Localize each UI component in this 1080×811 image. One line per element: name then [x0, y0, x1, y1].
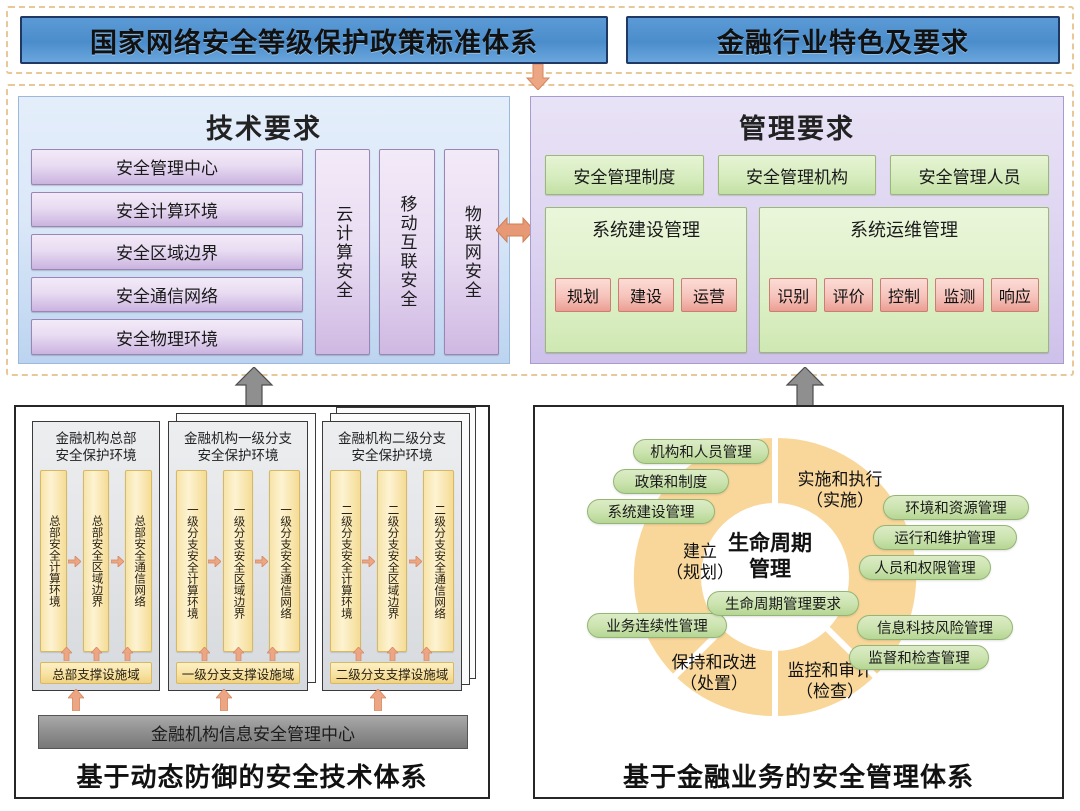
security-column-label: 总部安全区域边界 — [90, 515, 103, 607]
lifecycle-pill[interactable]: 环境和资源管理 — [883, 495, 1029, 520]
finance-security-management-diagram: 建立 （规划） 实施和执行 （实施） 监控和审计 （检查） 保持和改进 （处置）… — [533, 405, 1064, 799]
institution-group-title: 金融机构总部 安全保护环境 — [33, 422, 159, 464]
left-diagram-caption: 基于动态防御的安全技术体系 — [14, 757, 490, 794]
support-facility-bar[interactable]: 总部支撑设施域 — [40, 662, 152, 684]
right-arrow-icon — [208, 556, 221, 567]
right-diagram-caption: 基于金融业务的安全管理体系 — [533, 757, 1064, 794]
support-facility-bar[interactable]: 二级分支支撑设施域 — [330, 662, 454, 684]
management-requirements-panel: 管理要求 安全管理制度 安全管理机构 安全管理人员 系统建设管理 规划 建设 运… — [530, 96, 1064, 364]
technical-requirements-panel: 技术要求 安全管理中心 安全计算环境 安全区域边界 安全通信网络 安全物理环境 … — [18, 96, 510, 364]
mini-up-arrow-icon — [421, 647, 432, 661]
tech-layer-list: 安全管理中心 安全计算环境 安全区域边界 安全通信网络 安全物理环境 — [31, 149, 303, 355]
right-arrow-icon — [255, 556, 268, 567]
tech-extension-item[interactable]: 云计算安全 — [315, 149, 370, 355]
security-column-label: 二级分支安全计算环境 — [339, 504, 352, 619]
orange-down-arrow-icon — [525, 64, 551, 90]
tech-layer-item[interactable]: 安全通信网络 — [31, 277, 303, 313]
tech-layer-item[interactable]: 安全计算环境 — [31, 192, 303, 228]
institution-group-level1-branch[interactable]: 金融机构一级分支 安全保护环境 一级分支安全计算环境 一级分支安全区域边界 一级… — [168, 421, 308, 691]
right-arrow-icon — [362, 556, 375, 567]
security-column[interactable]: 二级分支安全计算环境 — [330, 470, 361, 652]
institution-group-title: 金融机构一级分支 安全保护环境 — [169, 422, 307, 464]
security-column-label: 总部安全通信网络 — [132, 515, 145, 607]
bidirectional-arrow-icon — [496, 212, 534, 248]
security-column-label: 一级分支安全区域边界 — [232, 504, 245, 619]
mgmt-chip[interactable]: 控制 — [880, 278, 928, 312]
tech-layer-item[interactable]: 安全物理环境 — [31, 319, 303, 355]
security-column-label: 总部安全计算环境 — [47, 515, 60, 607]
tech-extension-label: 物联网安全 — [459, 205, 484, 300]
lifecycle-pill[interactable]: 机构和人员管理 — [633, 439, 769, 464]
lifecycle-pill[interactable]: 系统建设管理 — [587, 499, 715, 524]
quadrant-label-implement: 实施和执行 （实施） — [780, 469, 900, 511]
security-column[interactable]: 总部安全区域边界 — [83, 470, 110, 652]
security-column-label: 二级分支安全区域边界 — [386, 504, 399, 619]
quadrant-label-maintain: 保持和改进 （处置） — [655, 652, 773, 694]
tech-layer-item[interactable]: 安全区域边界 — [31, 234, 303, 270]
institution-group-level2-branch[interactable]: 金融机构二级分支 安全保护环境 二级分支安全计算环境 二级分支安全区域边界 二级… — [322, 421, 462, 691]
mgmt-chip[interactable]: 建设 — [618, 278, 674, 312]
tech-extension-item[interactable]: 移动互联安全 — [379, 149, 434, 355]
lifecycle-pill[interactable]: 业务连续性管理 — [587, 613, 727, 638]
mgmt-chip[interactable]: 规划 — [555, 278, 611, 312]
mini-up-arrow-icon — [387, 647, 398, 661]
mgmt-chip[interactable]: 响应 — [991, 278, 1039, 312]
right-arrow-icon — [111, 556, 124, 567]
security-column-label: 一级分支安全计算环境 — [185, 504, 198, 619]
mgmt-top-item[interactable]: 安全管理制度 — [545, 155, 704, 195]
mini-up-arrow-icon — [370, 689, 386, 711]
tech-extension-label: 移动互联安全 — [394, 195, 419, 309]
mgmt-top-item[interactable]: 安全管理机构 — [718, 155, 877, 195]
mini-up-arrow-icon — [216, 689, 232, 711]
right-arrow-icon — [68, 556, 81, 567]
institution-group-title: 金融机构二级分支 安全保护环境 — [323, 422, 461, 464]
up-arrow-icon-left — [234, 367, 274, 407]
security-column[interactable]: 二级分支安全区域边界 — [377, 470, 408, 652]
mgmt-chip[interactable]: 运营 — [681, 278, 737, 312]
security-column[interactable]: 一级分支安全计算环境 — [176, 470, 207, 652]
banner-national-policy[interactable]: 国家网络安全等级保护政策标准体系 — [20, 16, 608, 64]
lifecycle-center-pill[interactable]: 生命周期管理要求 — [707, 591, 859, 616]
security-column[interactable]: 总部安全计算环境 — [40, 470, 67, 652]
lifecycle-pill[interactable]: 政策和制度 — [613, 469, 729, 494]
mgmt-panel-title: 管理要求 — [531, 97, 1063, 146]
lifecycle-pill[interactable]: 运行和维护管理 — [873, 525, 1017, 550]
mgmt-chip[interactable]: 监测 — [935, 278, 983, 312]
security-column[interactable]: 一级分支安全区域边界 — [223, 470, 254, 652]
lifecycle-pill[interactable]: 信息科技风险管理 — [857, 615, 1013, 640]
mini-up-arrow-icon — [233, 647, 244, 661]
right-arrow-icon — [409, 556, 422, 567]
mini-up-arrow-icon — [61, 647, 72, 661]
mini-up-arrow-icon — [122, 647, 133, 661]
tech-extension-label: 云计算安全 — [330, 205, 355, 300]
institution-group-headquarters[interactable]: 金融机构总部 安全保护环境 总部安全计算环境 总部安全区域边界 总部安全通信网络… — [32, 421, 160, 691]
information-security-management-center-bar[interactable]: 金融机构信息安全管理中心 — [38, 715, 468, 749]
lifecycle-pill[interactable]: 人员和权限管理 — [859, 555, 991, 580]
security-column[interactable]: 一级分支安全通信网络 — [269, 470, 300, 652]
tech-layer-item[interactable]: 安全管理中心 — [31, 149, 303, 185]
mgmt-chip[interactable]: 评价 — [824, 278, 872, 312]
mini-up-arrow-icon — [267, 647, 278, 661]
security-column[interactable]: 总部安全通信网络 — [125, 470, 152, 652]
mgmt-group-title: 系统运维管理 — [760, 208, 1048, 248]
mgmt-group-construction: 系统建设管理 规划 建设 运营 — [545, 207, 747, 353]
security-column[interactable]: 二级分支安全通信网络 — [423, 470, 454, 652]
mini-up-arrow-icon — [91, 647, 102, 661]
tech-panel-title: 技术要求 — [19, 97, 509, 146]
up-arrow-icon-right — [785, 367, 825, 407]
mini-up-arrow-icon — [68, 689, 84, 711]
mgmt-group-title: 系统建设管理 — [546, 208, 746, 248]
tech-extension-list: 云计算安全 移动互联安全 物联网安全 — [312, 149, 499, 355]
mgmt-top-items: 安全管理制度 安全管理机构 安全管理人员 — [545, 155, 1049, 195]
lifecycle-pill[interactable]: 监督和检查管理 — [849, 645, 989, 670]
mgmt-top-item[interactable]: 安全管理人员 — [890, 155, 1049, 195]
mini-up-arrow-icon — [353, 647, 364, 661]
support-facility-bar[interactable]: 一级分支支撑设施域 — [176, 662, 300, 684]
security-column-label: 一级分支安全通信网络 — [278, 504, 291, 619]
mini-up-arrow-icon — [199, 647, 210, 661]
mgmt-group-operations: 系统运维管理 识别 评价 控制 监测 响应 — [759, 207, 1049, 353]
banner-finance-industry[interactable]: 金融行业特色及要求 — [626, 16, 1060, 64]
mgmt-group-row: 系统建设管理 规划 建设 运营 系统运维管理 识别 评价 控制 监测 响应 — [545, 207, 1049, 353]
lifecycle-center-label: 生命周期 管理 — [690, 531, 850, 583]
mgmt-chip[interactable]: 识别 — [769, 278, 817, 312]
security-column-label: 二级分支安全通信网络 — [432, 504, 445, 619]
tech-extension-item[interactable]: 物联网安全 — [444, 149, 499, 355]
